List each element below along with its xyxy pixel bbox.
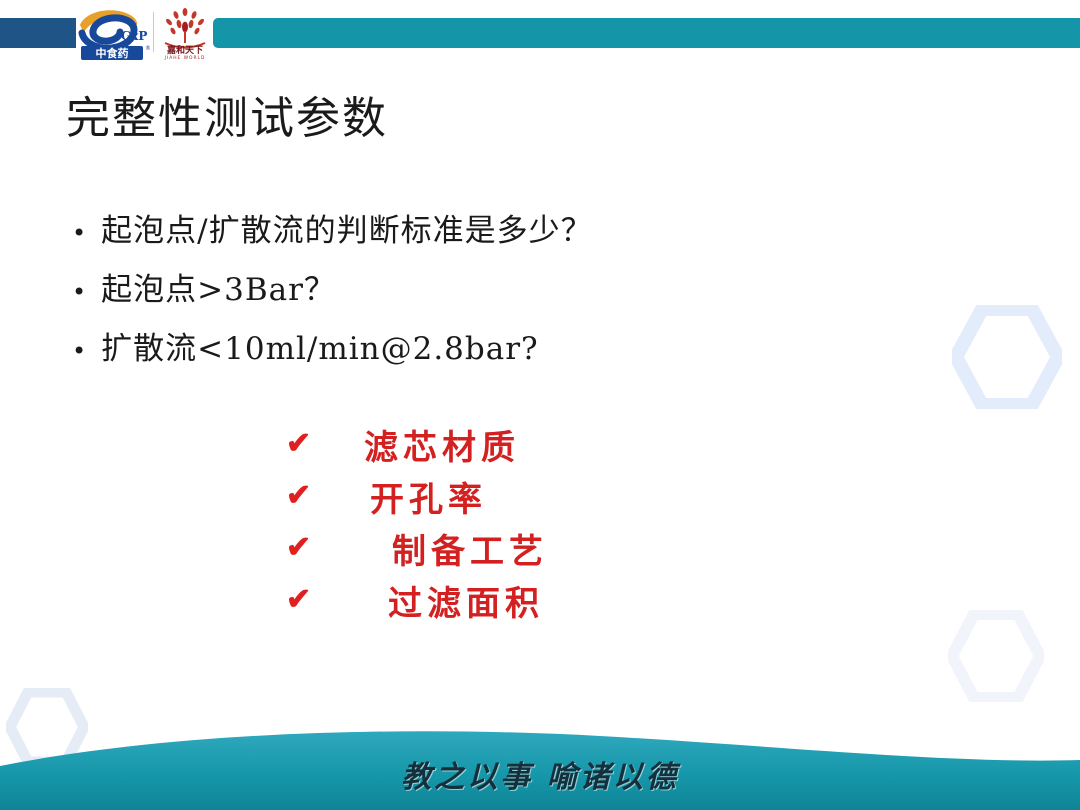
bullet-text-1: 起泡点/扩散流的判断标准是多少？ bbox=[101, 205, 592, 250]
hex-bottom-right-icon bbox=[948, 610, 1044, 707]
svg-text:嘉和天下: 嘉和天下 bbox=[166, 44, 203, 56]
checklist-item-2: ✔ 开孔率 bbox=[286, 470, 548, 522]
checklist-item-3: ✔ 制备工艺 bbox=[286, 522, 548, 574]
bullet-item-2: • 起泡点>3Bar？ bbox=[72, 264, 932, 309]
footer-calligraphy: 教之以事 喻诸以德 bbox=[0, 752, 1080, 796]
bullet-dot-icon: • bbox=[72, 339, 87, 363]
brand-logo-group: GxP 中食药 ® bbox=[76, 2, 213, 62]
checklist-label-3: 制备工艺 bbox=[392, 524, 548, 573]
header-bar-right bbox=[213, 18, 1080, 48]
bullet-item-1: • 起泡点/扩散流的判断标准是多少？ bbox=[72, 205, 932, 250]
bullet-item-3: • 扩散流<10ml/min@2.8bar? bbox=[72, 323, 932, 368]
bullet-list: • 起泡点/扩散流的判断标准是多少？ • 起泡点>3Bar？ • 扩散流<10m… bbox=[72, 205, 932, 382]
svg-text:®: ® bbox=[145, 45, 150, 52]
bullet-dot-icon: • bbox=[72, 280, 87, 304]
header-bar-left bbox=[0, 18, 87, 48]
bullet-dot-icon: • bbox=[72, 221, 87, 245]
gxp-logo-svg: GxP 中食药 ® bbox=[76, 3, 150, 61]
checklist: ✔ 滤芯材质 ✔ 开孔率 ✔ 制备工艺 ✔ 过滤面积 bbox=[286, 418, 548, 626]
bullet-text-3: 扩散流<10ml/min@2.8bar? bbox=[101, 323, 539, 368]
svg-text:中食药: 中食药 bbox=[96, 46, 129, 60]
hex-top-right-icon bbox=[952, 305, 1062, 414]
jiahe-logo-svg: 嘉和天下 JIAHE WORLD bbox=[157, 3, 213, 61]
checklist-label-4: 过滤面积 bbox=[388, 576, 544, 625]
svg-text:JIAHE WORLD: JIAHE WORLD bbox=[164, 55, 206, 61]
check-icon: ✔ bbox=[286, 533, 364, 563]
check-icon: ✔ bbox=[286, 429, 364, 459]
gxp-swoosh-logo: GxP 中食药 ® bbox=[76, 3, 150, 61]
svg-text:GxP: GxP bbox=[121, 29, 147, 43]
page-title: 完整性测试参数 bbox=[66, 82, 388, 146]
checklist-label-1: 滤芯材质 bbox=[364, 420, 520, 469]
slide-canvas: GxP 中食药 ® bbox=[0, 0, 1080, 810]
bullet-text-2: 起泡点>3Bar？ bbox=[101, 264, 336, 309]
check-icon: ✔ bbox=[286, 481, 364, 511]
checklist-item-1: ✔ 滤芯材质 bbox=[286, 418, 548, 470]
checklist-label-2: 开孔率 bbox=[370, 472, 487, 521]
checklist-item-4: ✔ 过滤面积 bbox=[286, 574, 548, 626]
check-icon: ✔ bbox=[286, 585, 364, 615]
jiahe-tree-logo: 嘉和天下 JIAHE WORLD bbox=[157, 3, 213, 61]
logo-divider bbox=[153, 12, 154, 52]
